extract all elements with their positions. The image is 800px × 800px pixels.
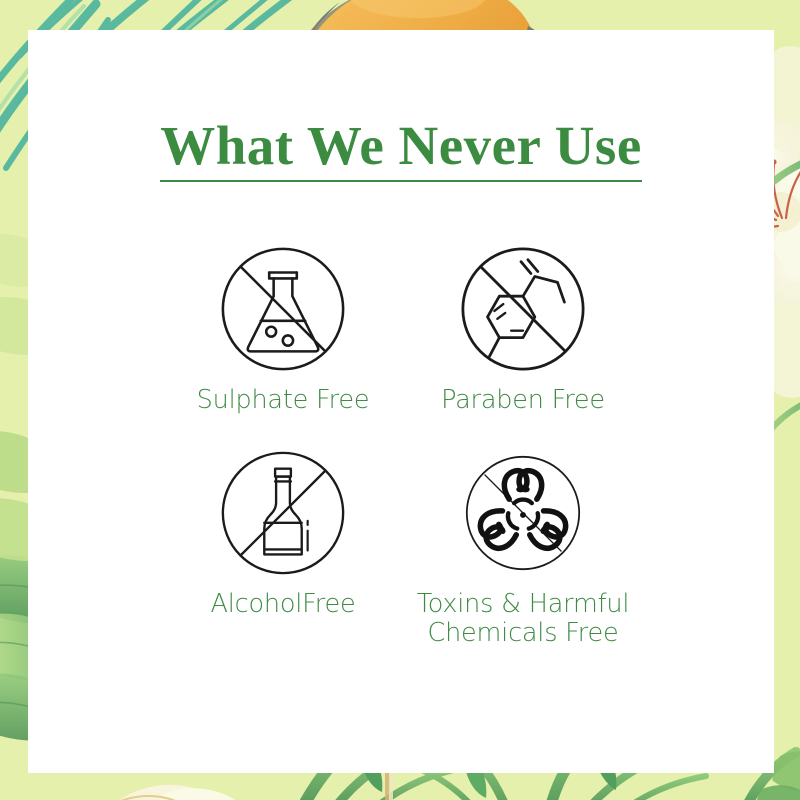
poster-canvas: What We Never Use (0, 0, 800, 800)
grid-item-label: Toxins & Harmful Chemicals Free (417, 590, 629, 649)
grid-item-toxins-free: Toxins & Harmful Chemicals Free (408, 444, 638, 649)
no-alcohol-bottle-icon (214, 444, 352, 582)
page-title: What We Never Use (160, 118, 642, 182)
no-flask-icon (214, 240, 352, 378)
no-paraben-molecule-icon (454, 240, 592, 378)
no-biohazard-icon (454, 444, 592, 582)
grid-item-paraben-free: Paraben Free (408, 240, 638, 416)
grid-item-label: Paraben Free (441, 386, 605, 416)
page-title-wrapper: What We Never Use (28, 118, 774, 182)
grid-item-label: Sulphate Free (197, 386, 370, 416)
grid-item-label: AlcoholFree (211, 590, 356, 620)
grid-item-alcohol-free: AlcoholFree (168, 444, 398, 649)
grid-item-sulphate-free: Sulphate Free (168, 240, 398, 416)
content-card: What We Never Use (28, 30, 774, 773)
never-use-grid: Sulphate Free (168, 240, 638, 649)
